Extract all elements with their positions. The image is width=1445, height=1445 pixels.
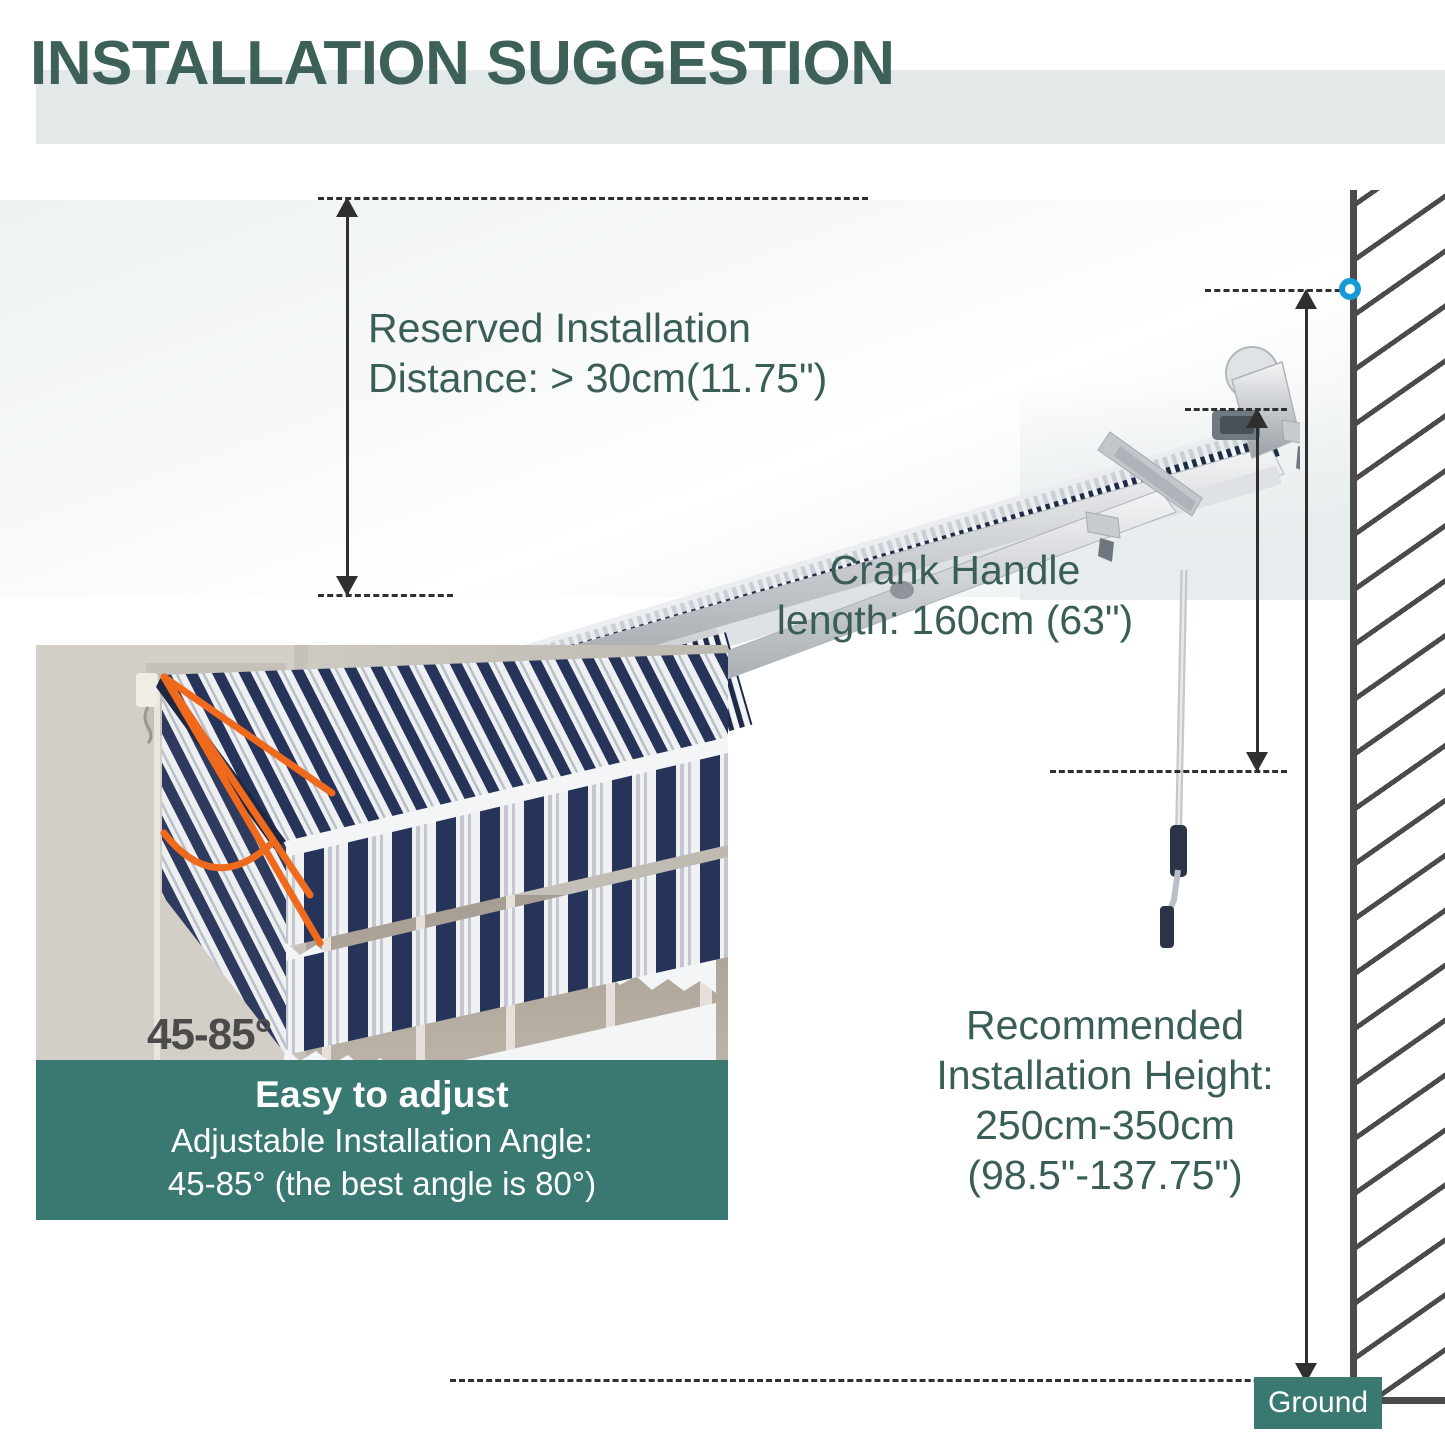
recommended-height-arrow-top: [1295, 289, 1317, 309]
reserved-distance-arrow-top: [336, 197, 358, 217]
caption-box: Easy to adjust Adjustable Installation A…: [36, 1060, 728, 1220]
installation-suggestion-infographic: INSTALLATION SUGGESTION Reserved Install…: [0, 0, 1445, 1445]
caption-heading: Easy to adjust: [255, 1074, 509, 1116]
recommended-height-dimension-line: [1305, 298, 1308, 1383]
recommended-height-label: Recommended Installation Height: 250cm-3…: [905, 1000, 1305, 1200]
reserved-distance-arrow-bottom: [336, 576, 358, 596]
wall-hatch-pattern: [1357, 190, 1445, 1397]
crank-length-top-dashed-line: [1185, 408, 1287, 411]
wall-section: [1350, 190, 1445, 1404]
crank-handle-label: Crank Handle length: 160cm (63"): [735, 545, 1175, 645]
wall-anchor-point-icon: [1339, 278, 1361, 300]
crank-length-dimension-line: [1256, 416, 1259, 772]
angle-annotation-label: 45-85°: [147, 1010, 271, 1060]
photo-scene: [36, 645, 728, 1065]
caption-detail: Adjustable Installation Angle: 45-85° (t…: [168, 1120, 596, 1206]
mount-height-top-dashed-line: [1205, 289, 1350, 292]
installation-photo-inset: [36, 645, 728, 1065]
crank-length-arrow-top: [1246, 408, 1268, 428]
ground-label-badge: Ground: [1254, 1377, 1382, 1429]
reserved-distance-top-dashed-line: [318, 197, 868, 200]
page-title: INSTALLATION SUGGESTION: [30, 28, 895, 99]
crank-length-arrow-bottom: [1246, 752, 1268, 772]
reserved-distance-dimension-line: [346, 206, 349, 596]
ground-dashed-line: [450, 1379, 1350, 1382]
